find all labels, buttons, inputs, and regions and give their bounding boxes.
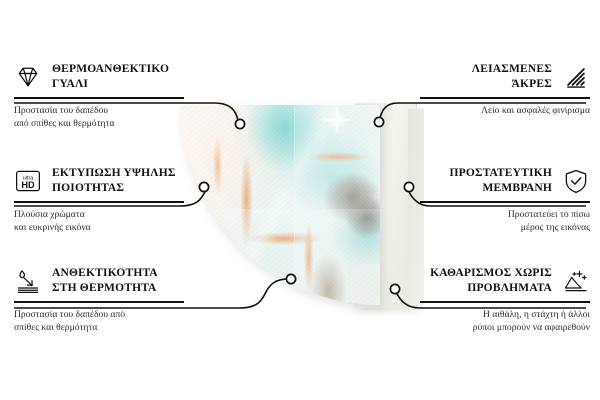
feature-subtitle: Προστατεύει το πίσω μέρος της εικόνας bbox=[334, 208, 590, 234]
feature-polished-edges: ΛΕΙΑΣΜΕΝΕΣ ΆΚΡΕΣ Λείο και ασφαλές φινίρι… bbox=[334, 62, 590, 117]
feature-title: ΘΕΡΜΟΑΝΘΕΚΤΙΚΟ ΓΥΑΛΙ bbox=[52, 62, 169, 92]
connector-dot bbox=[374, 117, 383, 126]
feature-heat-durability: ΑΝΘΕΚΤΙΚΟΤΗΤΑ ΣΤΗ ΘΕΡΜΟΤΗΤΑ Προστασία το… bbox=[14, 266, 264, 334]
feature-title: ΕΚΤΥΠΩΣΗ ΥΨΗΛΗΣ ΠΟΙΟΤΗΤΑΣ bbox=[52, 166, 176, 196]
diamond-icon bbox=[14, 63, 42, 91]
feature-high-quality-print: ultra HD ΕΚΤΥΠΩΣΗ ΥΨΗΛΗΣ ΠΟΙΟΤΗΤΑΣ Πλούσ… bbox=[14, 166, 264, 234]
divider bbox=[420, 201, 590, 203]
infographic-canvas: ΘΕΡΜΟΑΝΘΕΚΤΙΚΟ ΓΥΑΛΙ Προστασία του δαπέδ… bbox=[0, 0, 600, 400]
feature-protective-membrane: ΠΡΟΣΤΑΤΕΥΤΙΚΗ ΜΕΜΒΡΑΝΗ Προστατεύει το πί… bbox=[334, 166, 590, 234]
feature-subtitle: Η αιθάλη, η στάχτη ή άλλοι ρύποι μπορούν… bbox=[334, 308, 590, 334]
feature-title: ΚΑΘΑΡΙΣΜΟΣ ΧΩΡΙΣ ΠΡΟΒΛΗΜΑΤΑ bbox=[430, 266, 552, 296]
divider bbox=[14, 301, 184, 303]
ultra-hd-icon: ultra HD bbox=[14, 167, 42, 195]
easy-clean-sparkle-icon bbox=[562, 267, 590, 295]
shield-check-icon bbox=[562, 167, 590, 195]
feature-subtitle: Προστασία του δαπέδου από σπίθες και θερ… bbox=[14, 104, 264, 130]
divider bbox=[14, 201, 184, 203]
feature-title: ΑΝΘΕΚΤΙΚΟΤΗΤΑ ΣΤΗ ΘΕΡΜΟΤΗΤΑ bbox=[52, 266, 158, 296]
feature-subtitle: Προστασία του δαπέδου από σπίθες και θερ… bbox=[14, 308, 264, 334]
divider bbox=[14, 97, 184, 99]
feature-subtitle: Πλούσια χρώματα και ευκρινής εικόνα bbox=[14, 208, 264, 234]
divider bbox=[420, 301, 590, 303]
divider bbox=[420, 97, 590, 99]
connector-dot bbox=[286, 274, 295, 283]
hd-label: HD bbox=[21, 180, 35, 190]
feature-subtitle: Λείο και ασφαλές φινίρισμα bbox=[334, 104, 590, 117]
polished-edges-icon bbox=[562, 63, 590, 91]
feature-heat-resistant-glass: ΘΕΡΜΟΑΝΘΕΚΤΙΚΟ ΓΥΑΛΙ Προστασία του δαπέδ… bbox=[14, 62, 264, 130]
feature-easy-cleaning: ΚΑΘΑΡΙΣΜΟΣ ΧΩΡΙΣ ΠΡΟΒΛΗΜΑΤΑ Η αιθάλη, η … bbox=[334, 266, 590, 334]
feature-title: ΛΕΙΑΣΜΕΝΕΣ ΆΚΡΕΣ bbox=[472, 62, 552, 92]
heat-resistance-icon bbox=[14, 267, 42, 295]
feature-title: ΠΡΟΣΤΑΤΕΥΤΙΚΗ ΜΕΜΒΡΑΝΗ bbox=[450, 166, 552, 196]
